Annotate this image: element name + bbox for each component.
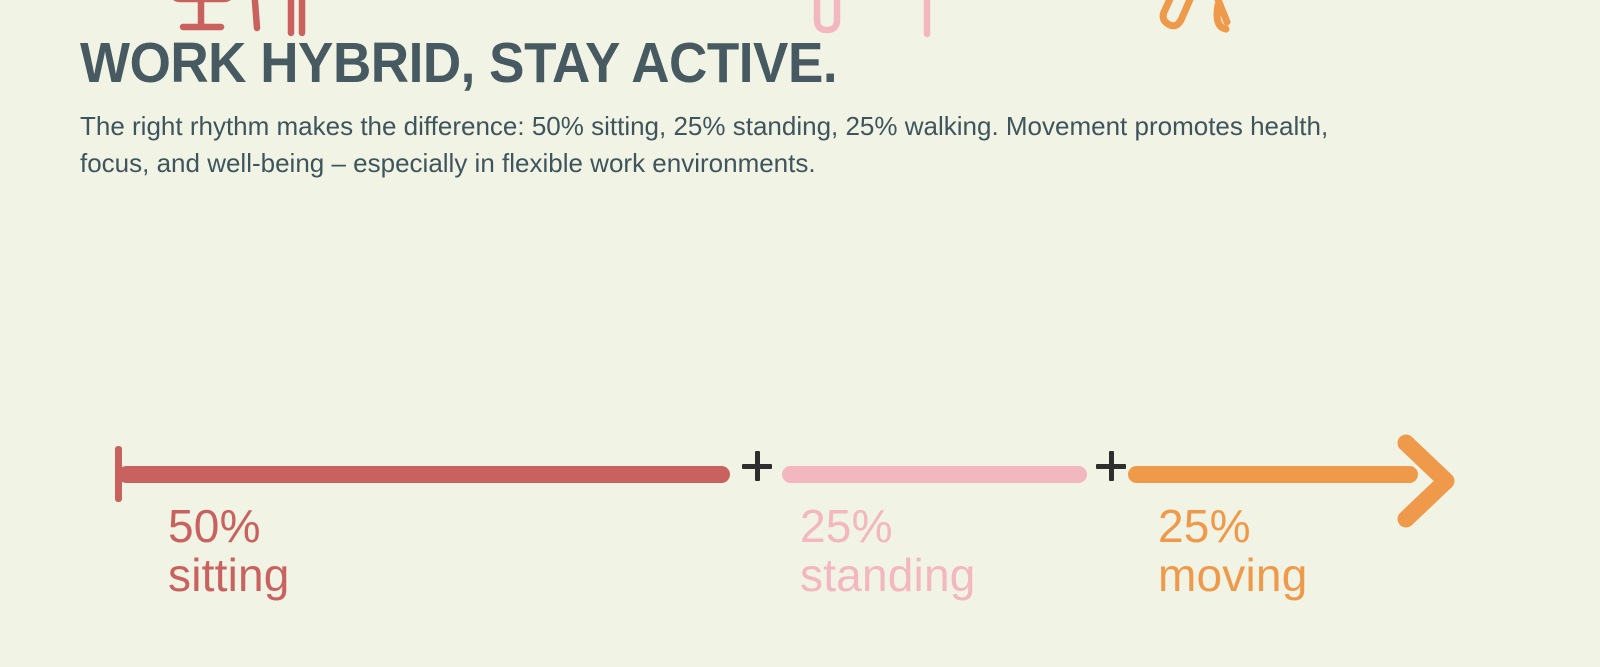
infographic-canvas: WORK HYBRID, STAY ACTIVE. The right rhyt… [0,0,1600,667]
header: WORK HYBRID, STAY ACTIVE. The right rhyt… [80,34,1500,182]
bar-standing [782,466,1087,483]
bar-moving [1128,466,1418,483]
person-walking-icon [1155,0,1260,43]
person-sitting-at-desk-icon [165,0,315,43]
arrow-head-icon [1390,433,1470,538]
label-sitting: 50% sitting [168,502,290,600]
person-standing-at-desk-icon [796,0,931,43]
activity-breakdown-chart: 50% sitting [0,255,1600,655]
plus-separator-1 [742,451,772,481]
bar-sitting [118,466,730,483]
label-moving: 25% moving [1158,502,1308,600]
label-standing: 25% standing [800,502,976,600]
page-subtitle: The right rhythm makes the difference: 5… [80,108,1390,182]
plus-separator-2 [1096,451,1126,481]
